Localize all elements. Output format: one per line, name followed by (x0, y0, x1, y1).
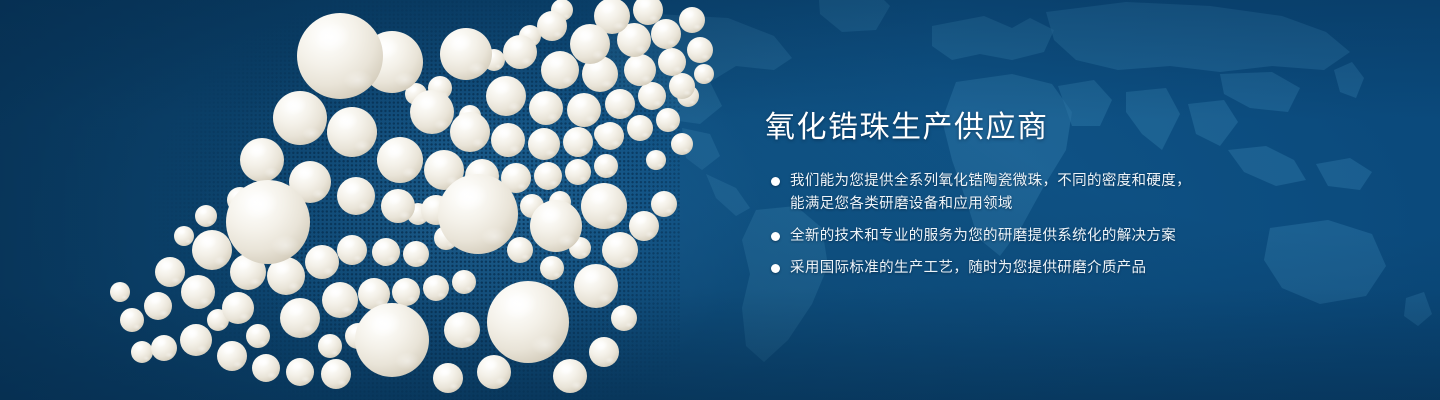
bullet-dot-icon (771, 264, 780, 273)
list-item: 我们能为您提供全系列氧化锆陶瓷微珠，不同的密度和硬度， 能满足您各类研磨设备和应… (765, 170, 1405, 216)
list-item-line1: 全新的技术和专业的服务为您的研磨提供系统化的解决方案 (790, 228, 1176, 244)
list-item-text: 我们能为您提供全系列氧化锆陶瓷微珠，不同的密度和硬度， 能满足您各类研磨设备和应… (790, 170, 1405, 216)
banner-content: 氧化锆珠生产供应商 我们能为您提供全系列氧化锆陶瓷微珠，不同的密度和硬度， 能满… (765, 108, 1405, 280)
list-item: 全新的技术和专业的服务为您的研磨提供系统化的解决方案 (765, 225, 1405, 248)
feature-list: 我们能为您提供全系列氧化锆陶瓷微珠，不同的密度和硬度， 能满足您各类研磨设备和应… (765, 170, 1405, 280)
promo-banner: 氧化锆珠生产供应商 我们能为您提供全系列氧化锆陶瓷微珠，不同的密度和硬度， 能满… (0, 0, 1440, 400)
list-item-text: 采用国际标准的生产工艺，随时为您提供研磨介质产品 (790, 257, 1405, 280)
bullet-dot-icon (771, 232, 780, 241)
list-item: 采用国际标准的生产工艺，随时为您提供研磨介质产品 (765, 257, 1405, 280)
bullet-dot-icon (771, 177, 780, 186)
list-item-text: 全新的技术和专业的服务为您的研磨提供系统化的解决方案 (790, 225, 1405, 248)
page-title: 氧化锆珠生产供应商 (765, 108, 1405, 148)
list-item-line2: 能满足您各类研磨设备和应用领域 (790, 193, 1405, 216)
list-item-line1: 采用国际标准的生产工艺，随时为您提供研磨介质产品 (790, 260, 1146, 276)
list-item-line1: 我们能为您提供全系列氧化锆陶瓷微珠，不同的密度和硬度， (790, 173, 1191, 189)
